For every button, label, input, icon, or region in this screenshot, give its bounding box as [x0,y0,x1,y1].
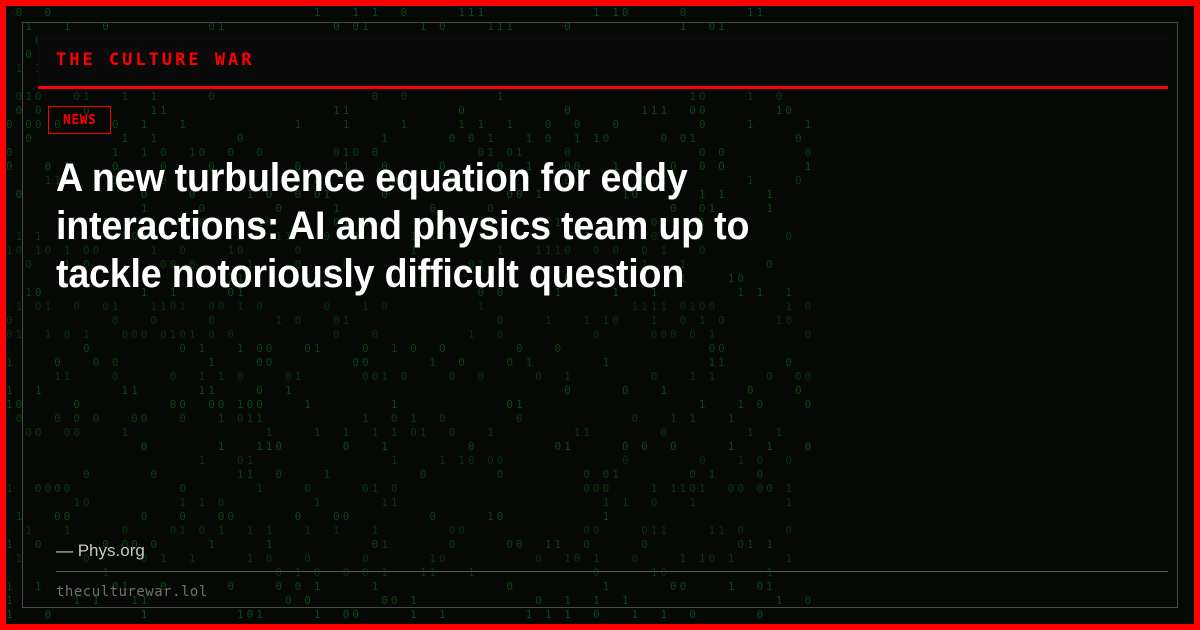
card-footer: — Phys.org theculturewar.lol [56,541,1168,600]
brand-title: THE CULTURE WAR [56,50,255,70]
article-headline: A new turbulence equation for eddy inter… [56,154,770,298]
card-content: THE CULTURE WAR NEWS A new turbulence eq… [6,6,1194,624]
brand-header-bar: THE CULTURE WAR [38,34,1168,89]
source-attribution: — Phys.org [56,541,1168,571]
category-badge-news[interactable]: NEWS [48,106,111,134]
news-share-card: 0 0 1 1 1 0 111 1 10 0 11 1 1 0 01 0 01 … [0,0,1200,630]
site-domain: theculturewar.lol [56,572,1168,600]
